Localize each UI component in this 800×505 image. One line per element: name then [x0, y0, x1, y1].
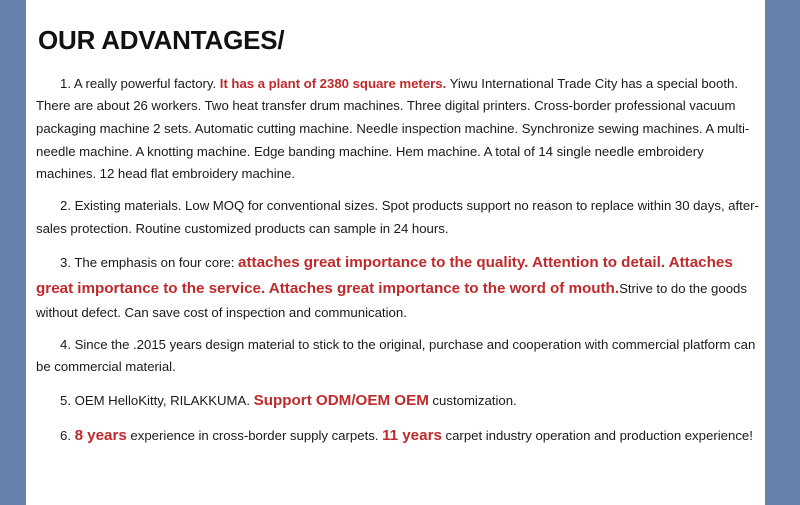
page-title: OUR ADVANTAGES/ [38, 26, 759, 55]
item-2-text: Existing materials. Low MOQ for conventi… [36, 198, 759, 236]
item-1-number: 1. [60, 76, 71, 91]
list-item-6: 6. 8 years experience in cross-border su… [36, 423, 759, 449]
item-5-highlight: Support ODM/OEM OEM [254, 392, 429, 409]
right-accent-bar [765, 0, 800, 505]
item-4-text: Since the .2015 years design material to… [36, 337, 755, 375]
slide-canvas: OUR ADVANTAGES/ 1. A really powerful fac… [0, 0, 800, 505]
list-item-4: 4. Since the .2015 years design material… [36, 334, 759, 379]
item-6-mid: experience in cross-border supply carpet… [127, 428, 382, 443]
item-6-number: 6. [60, 428, 71, 443]
list-item-2: 2. Existing materials. Low MOQ for conve… [36, 195, 759, 240]
item-4-number: 4. [60, 337, 71, 352]
list-item-5: 5. OEM HelloKitty, RILAKKUMA. Support OD… [36, 388, 759, 414]
item-5-number: 5. [60, 393, 71, 408]
item-1-rest: Yiwu International Trade City has a spec… [36, 76, 749, 182]
list-item-1: 1. A really powerful factory. It has a p… [36, 73, 759, 187]
item-6-highlight-2: 11 years [382, 427, 442, 444]
item-1-highlight: It has a plant of 2380 square meters. [220, 76, 447, 91]
left-accent-bar [0, 0, 26, 505]
item-3-lead: The emphasis on four core: [71, 255, 238, 270]
item-3-number: 3. [60, 255, 71, 270]
item-6-highlight-1: 8 years [75, 427, 127, 444]
slide-content: OUR ADVANTAGES/ 1. A really powerful fac… [26, 0, 765, 505]
advantages-list: 1. A really powerful factory. It has a p… [36, 73, 759, 450]
item-1-lead: A really powerful factory. [71, 76, 220, 91]
item-5-rest: customization. [429, 393, 517, 408]
list-item-3: 3. The emphasis on four core: attaches g… [36, 250, 759, 325]
item-2-number: 2. [60, 198, 71, 213]
item-6-rest: carpet industry operation and production… [442, 428, 753, 443]
item-5-lead: OEM HelloKitty, RILAKKUMA. [71, 393, 254, 408]
